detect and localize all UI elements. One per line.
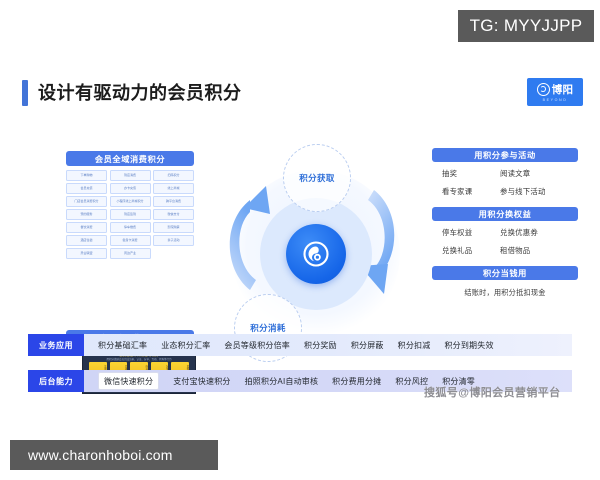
usage-item: 看专家课 xyxy=(432,186,500,197)
capability-item: 积分奖励 xyxy=(304,340,337,351)
capability-item: 微信快速积分 xyxy=(98,372,159,390)
usage-group-rows: 抽奖阅读文章看专家课参与线下活动 xyxy=(432,168,578,197)
consume-chip: 微信支付 xyxy=(153,209,194,220)
consume-chip: 影院购票 xyxy=(153,222,194,233)
consume-chip: 亲子活动 xyxy=(153,235,194,246)
row-label-backend: 后台能力 xyxy=(28,370,84,392)
usage-row: 兑换礼品租借物品 xyxy=(432,245,578,256)
sohu-watermark: 搜狐号@博阳会员营销平台 xyxy=(424,384,561,400)
capability-item: 业态积分汇率 xyxy=(161,340,210,351)
usage-group-rows: 停车权益兑换优惠券兑换礼品租借物品 xyxy=(432,227,578,256)
brand-mark-icon xyxy=(301,239,331,269)
consume-chip: 小程序线上商城积分 xyxy=(110,196,151,207)
capability-item: 积分屏蔽 xyxy=(351,340,384,351)
usage-item: 阅读文章 xyxy=(500,168,530,179)
brand-logo-icon xyxy=(537,83,550,96)
consume-chip: 下单购物 xyxy=(66,170,107,181)
consume-chip: 跨平台消费 xyxy=(153,196,194,207)
business-item-list: 积分基础汇率业态积分汇率会员等级积分倍率积分奖励积分屏蔽积分扣减积分到期失效 xyxy=(84,340,572,351)
usage-row: 看专家课参与线下活动 xyxy=(432,186,578,197)
diagram-core-circle xyxy=(286,224,346,284)
capability-item: 积分到期失效 xyxy=(444,340,493,351)
points-usage-groups: 用积分参与活动抽奖阅读文章看专家课参与线下活动用积分换权益停车权益兑换优惠券兑换… xyxy=(432,148,584,298)
panel-heading-usage-group: 积分当钱用 xyxy=(432,266,578,280)
brand-logo-name: 博阳 xyxy=(552,82,574,97)
consume-chip: 线上商城 xyxy=(153,183,194,194)
usage-row: 停车权益兑换优惠券 xyxy=(432,227,578,238)
consume-chip: 预约服务 xyxy=(66,209,107,220)
panel-heading-consume-points: 会员全域消费积分 xyxy=(66,151,194,166)
usage-item: 兑换优惠券 xyxy=(500,227,538,238)
consume-chip: 到店消费 xyxy=(110,170,151,181)
usage-item: 兑换礼品 xyxy=(432,245,500,256)
consume-chip: 酒店住宿 xyxy=(66,235,107,246)
consume-chip: 办卡充值 xyxy=(110,183,151,194)
consume-chip: 门店会员消费积分 xyxy=(66,196,107,207)
usage-group-note: 结账时，用积分抵扣现金 xyxy=(432,286,578,298)
consume-points-grid: 下单购物到店消费扫码积分会员充值办卡充值线上商城门店会员消费积分小程序线上商城积… xyxy=(66,170,194,259)
capability-item: 支付宝快速积分 xyxy=(173,376,230,387)
usage-item: 参与线下活动 xyxy=(500,186,546,197)
diagram-node-earn-points: 积分获取 xyxy=(283,144,351,212)
capability-row-business: 业务应用 积分基础汇率业态积分汇率会员等级积分倍率积分奖励积分屏蔽积分扣减积分到… xyxy=(28,334,572,356)
consume-chip: 餐饮消费 xyxy=(66,222,107,233)
usage-item: 抽奖 xyxy=(432,168,500,179)
brand-logo-subtext: BEYOND xyxy=(543,98,568,102)
telegram-watermark: TG: MYYJJPP xyxy=(458,10,594,42)
panel-heading-usage-group: 用积分参与活动 xyxy=(432,148,578,162)
page-title: 设计有驱动力的会员积分 xyxy=(38,79,242,105)
footer-url-bar: www.charonhoboi.com xyxy=(10,440,218,470)
consume-chip: 健身卡消费 xyxy=(110,235,151,246)
consume-chip: 周边产业 xyxy=(110,248,151,259)
capability-item: 积分基础汇率 xyxy=(98,340,147,351)
consume-chip: 会员充值 xyxy=(66,183,107,194)
capability-item: 积分费用分摊 xyxy=(332,376,381,387)
thumbnail-subtitle: 用积分激励会员完成注册、认证、分享、互动、复购等行为 xyxy=(83,357,195,361)
consume-chip: 停车缴费 xyxy=(110,222,151,233)
points-cycle-diagram: 积分获取 积分消耗 xyxy=(214,144,414,394)
consume-chip: 扫码积分 xyxy=(153,170,194,181)
consume-chip: 异业联盟 xyxy=(66,248,107,259)
usage-item: 租借物品 xyxy=(500,245,530,256)
capability-item: 积分扣减 xyxy=(398,340,431,351)
slide-header: 设计有驱动力的会员积分 博阳 BEYOND xyxy=(14,66,586,110)
usage-item: 停车权益 xyxy=(432,227,500,238)
capability-item: 拍照积分AI自动审核 xyxy=(245,376,319,387)
title-accent-bar xyxy=(22,80,28,106)
capability-item: 会员等级积分倍率 xyxy=(224,340,290,351)
row-label-business: 业务应用 xyxy=(28,334,84,356)
consume-chip: 到店签到 xyxy=(110,209,151,220)
brand-logo: 博阳 BEYOND xyxy=(527,78,583,106)
panel-heading-usage-group: 用积分换权益 xyxy=(432,207,578,221)
usage-row: 抽奖阅读文章 xyxy=(432,168,578,179)
